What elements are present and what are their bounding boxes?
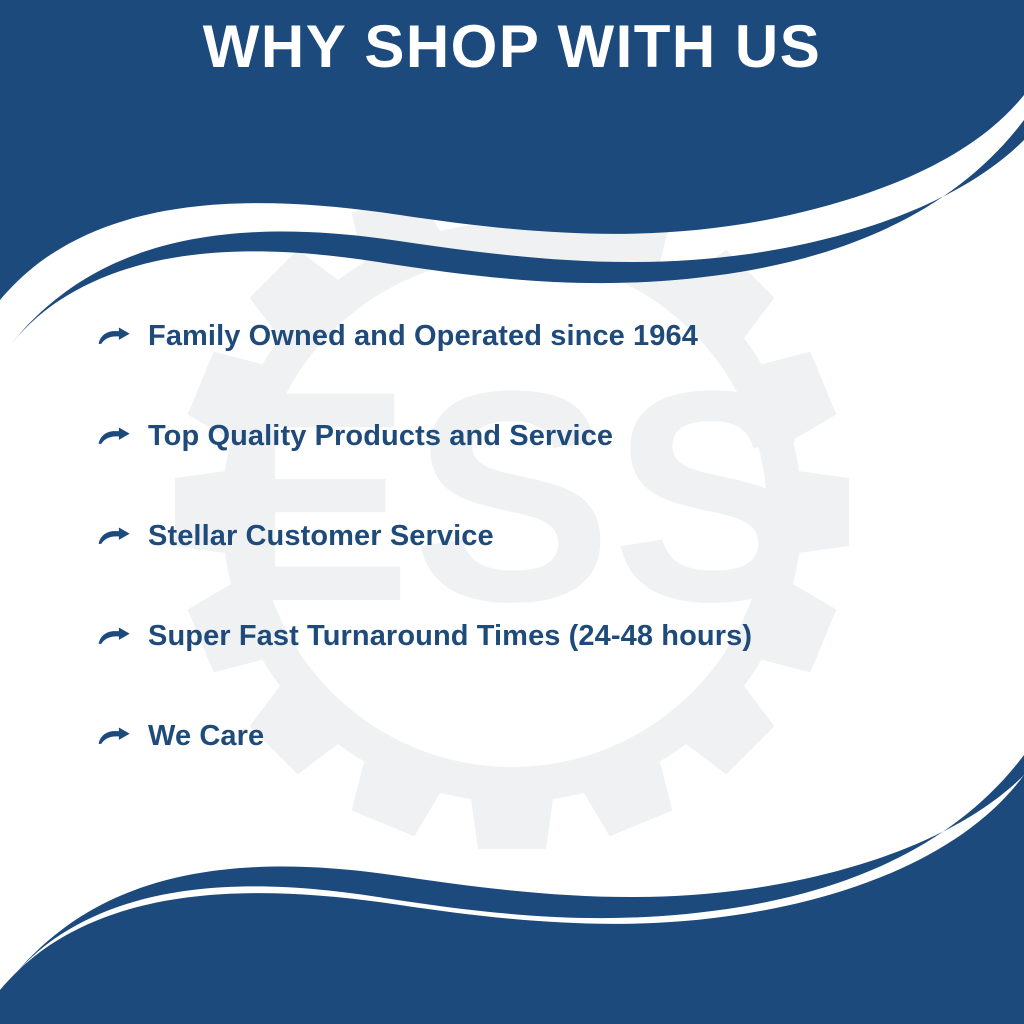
- curved-arrow-right-icon: [0, 310, 130, 362]
- list-item-label: Family Owned and Operated since 1964: [148, 319, 698, 353]
- promo-graphic: ESS WHY SHOP WITH US Family O: [0, 0, 1024, 1024]
- curved-arrow-right-icon: [0, 510, 130, 562]
- benefits-list: Family Owned and Operated since 1964 Top…: [0, 286, 1024, 786]
- list-item: Stellar Customer Service: [0, 486, 1024, 586]
- list-item: Top Quality Products and Service: [0, 386, 1024, 486]
- list-item: Super Fast Turnaround Times (24-48 hours…: [0, 586, 1024, 686]
- list-item: Family Owned and Operated since 1964: [0, 286, 1024, 386]
- list-item: We Care: [0, 686, 1024, 786]
- curved-arrow-right-icon: [0, 610, 130, 662]
- list-item-label: We Care: [148, 719, 264, 753]
- curved-arrow-right-icon: [0, 710, 130, 762]
- list-item-label: Stellar Customer Service: [148, 519, 494, 553]
- page-title: WHY SHOP WITH US: [0, 12, 1024, 82]
- list-item-label: Super Fast Turnaround Times (24-48 hours…: [148, 619, 752, 653]
- curved-arrow-right-icon: [0, 410, 130, 462]
- list-item-label: Top Quality Products and Service: [148, 419, 613, 453]
